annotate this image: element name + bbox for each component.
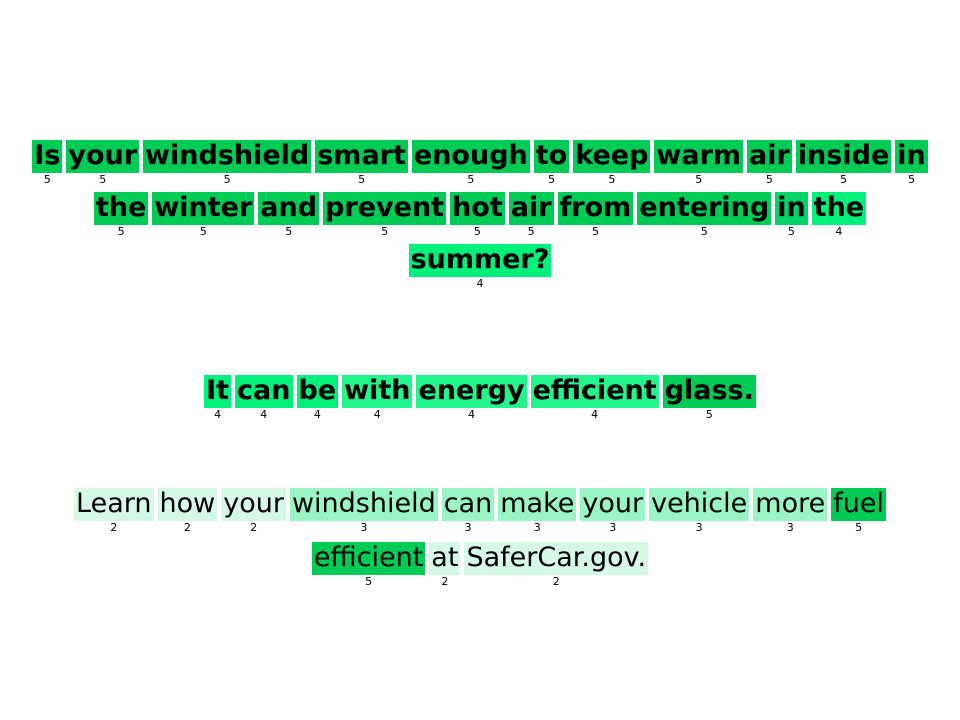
word-token: can3 (442, 488, 495, 535)
word-token: fuel5 (831, 488, 886, 535)
highlighted-word: can (442, 488, 495, 521)
word-score-label: 2 (441, 575, 448, 589)
highlighted-word: entering (637, 192, 771, 225)
word-score-label: 5 (855, 521, 862, 535)
word-score-label: 5 (592, 225, 599, 239)
highlighted-word: It (204, 375, 231, 408)
word-token: keep5 (573, 140, 650, 187)
word-score-label: 3 (360, 521, 367, 535)
highlighted-word: energy (416, 375, 526, 408)
word-score-label: 5 (528, 225, 535, 239)
word-token: and5 (258, 192, 319, 239)
word-token: make3 (498, 488, 576, 535)
word-token: efficient4 (531, 375, 659, 422)
word-token: windshield5 (143, 140, 311, 187)
highlighted-word: air (747, 140, 792, 173)
highlighted-word: in (775, 192, 807, 225)
highlighted-word: SaferCar.gov. (464, 542, 648, 575)
highlighted-word: and (258, 192, 319, 225)
word-score-label: 5 (200, 225, 207, 239)
highlighted-word: prevent (323, 192, 446, 225)
word-token: enough5 (412, 140, 530, 187)
word-score-label: 4 (374, 408, 381, 422)
word-token: be4 (297, 375, 339, 422)
highlighted-word: hot (450, 192, 505, 225)
highlighted-word: in (895, 140, 927, 173)
word-score-label: 5 (381, 225, 388, 239)
word-token: glass.5 (663, 375, 756, 422)
highlighted-word: keep (573, 140, 650, 173)
highlighted-word: glass. (663, 375, 756, 408)
word-score-label: 5 (467, 173, 474, 187)
word-token: can4 (235, 375, 292, 422)
text-line: efficient5at2SaferCar.gov.2 (0, 542, 960, 589)
word-score-label: 4 (260, 408, 267, 422)
highlighted-word: vehicle (649, 488, 749, 521)
word-token: Learn2 (74, 488, 153, 535)
highlighted-word: warm (654, 140, 743, 173)
word-score-label: 5 (695, 173, 702, 187)
highlighted-word: from (558, 192, 634, 225)
word-token: windshield3 (290, 488, 438, 535)
word-token: efficient5 (312, 542, 425, 589)
highlighted-word: Learn (74, 488, 153, 521)
word-score-label: 4 (214, 408, 221, 422)
paragraph-question: Is5your5windshield5smart5enough5to5keep5… (0, 140, 960, 291)
word-token: from5 (558, 192, 634, 239)
word-score-label: 4 (476, 277, 483, 291)
word-score-label: 2 (184, 521, 191, 535)
text-line: Learn2how2your2windshield3can3make3your3… (0, 488, 960, 535)
word-score-label: 5 (365, 575, 372, 589)
paragraph-cta: Learn2how2your2windshield3can3make3your3… (0, 488, 960, 589)
word-token: air5 (509, 192, 554, 239)
word-token: energy4 (416, 375, 526, 422)
word-score-label: 2 (110, 521, 117, 535)
highlighted-word: inside (796, 140, 891, 173)
highlighted-word: your (66, 140, 139, 173)
word-score-label: 5 (701, 225, 708, 239)
word-token: to5 (534, 140, 569, 187)
word-score-label: 5 (224, 173, 231, 187)
highlighted-word: enough (412, 140, 530, 173)
word-score-label: 3 (696, 521, 703, 535)
highlighted-word: summer? (409, 244, 552, 277)
word-token: your3 (580, 488, 645, 535)
word-score-label: 5 (474, 225, 481, 239)
word-token: in5 (895, 140, 927, 187)
highlighted-word: to (534, 140, 569, 173)
word-score-label: 3 (609, 521, 616, 535)
word-score-label: 5 (840, 173, 847, 187)
highlighted-word: windshield (143, 140, 311, 173)
word-score-label: 5 (548, 173, 555, 187)
highlighted-word: Is (32, 140, 62, 173)
highlighted-word: your (221, 488, 286, 521)
highlighted-word: smart (315, 140, 408, 173)
highlighted-word: with (342, 375, 412, 408)
word-score-label: 5 (706, 408, 713, 422)
word-score-label: 3 (787, 521, 794, 535)
highlighted-word: efficient (312, 542, 425, 575)
word-token: at2 (429, 542, 460, 589)
paragraph-answer: It4can4be4with4energy4efficient4glass.5 (0, 375, 960, 422)
word-score-label: 4 (314, 408, 321, 422)
slide-canvas: Is5your5windshield5smart5enough5to5keep5… (0, 0, 960, 720)
word-score-label: 4 (835, 225, 842, 239)
word-token: It4 (204, 375, 231, 422)
highlighted-word: your (580, 488, 645, 521)
word-token: summer?4 (409, 244, 552, 291)
highlighted-word: the (812, 192, 866, 225)
highlighted-word: more (753, 488, 827, 521)
word-token: your5 (66, 140, 139, 187)
highlighted-word: windshield (290, 488, 438, 521)
word-token: SaferCar.gov.2 (464, 542, 648, 589)
word-score-label: 5 (908, 173, 915, 187)
text-line: summer?4 (0, 244, 960, 291)
highlighted-word: fuel (831, 488, 886, 521)
word-token: smart5 (315, 140, 408, 187)
highlighted-word: at (429, 542, 460, 575)
text-line: Is5your5windshield5smart5enough5to5keep5… (0, 140, 960, 187)
highlighted-word: be (297, 375, 339, 408)
word-token: in5 (775, 192, 807, 239)
word-token: more3 (753, 488, 827, 535)
word-token: hot5 (450, 192, 505, 239)
highlighted-word: can (235, 375, 292, 408)
word-score-label: 4 (468, 408, 475, 422)
highlighted-word: air (509, 192, 554, 225)
highlighted-word: make (498, 488, 576, 521)
word-score-label: 5 (608, 173, 615, 187)
highlighted-word: winter (152, 192, 254, 225)
word-token: the4 (812, 192, 866, 239)
word-score-label: 5 (788, 225, 795, 239)
word-token: entering5 (637, 192, 771, 239)
word-score-label: 5 (285, 225, 292, 239)
word-token: the5 (94, 192, 148, 239)
word-score-label: 5 (766, 173, 773, 187)
word-token: winter5 (152, 192, 254, 239)
word-score-label: 5 (99, 173, 106, 187)
word-score-label: 2 (250, 521, 257, 535)
highlighted-word: efficient (531, 375, 659, 408)
word-score-label: 4 (591, 408, 598, 422)
word-token: Is5 (32, 140, 62, 187)
word-score-label: 5 (358, 173, 365, 187)
word-token: prevent5 (323, 192, 446, 239)
word-token: how2 (158, 488, 218, 535)
word-token: your2 (221, 488, 286, 535)
word-score-label: 5 (44, 173, 51, 187)
word-score-label: 3 (464, 521, 471, 535)
word-score-label: 2 (553, 575, 560, 589)
text-line: It4can4be4with4energy4efficient4glass.5 (0, 375, 960, 422)
word-token: with4 (342, 375, 412, 422)
highlighted-word: how (158, 488, 218, 521)
word-score-label: 3 (534, 521, 541, 535)
text-line: the5winter5and5prevent5hot5air5from5ente… (0, 192, 960, 239)
word-token: inside5 (796, 140, 891, 187)
word-score-label: 5 (118, 225, 125, 239)
word-token: vehicle3 (649, 488, 749, 535)
highlighted-word: the (94, 192, 148, 225)
word-token: warm5 (654, 140, 743, 187)
word-token: air5 (747, 140, 792, 187)
